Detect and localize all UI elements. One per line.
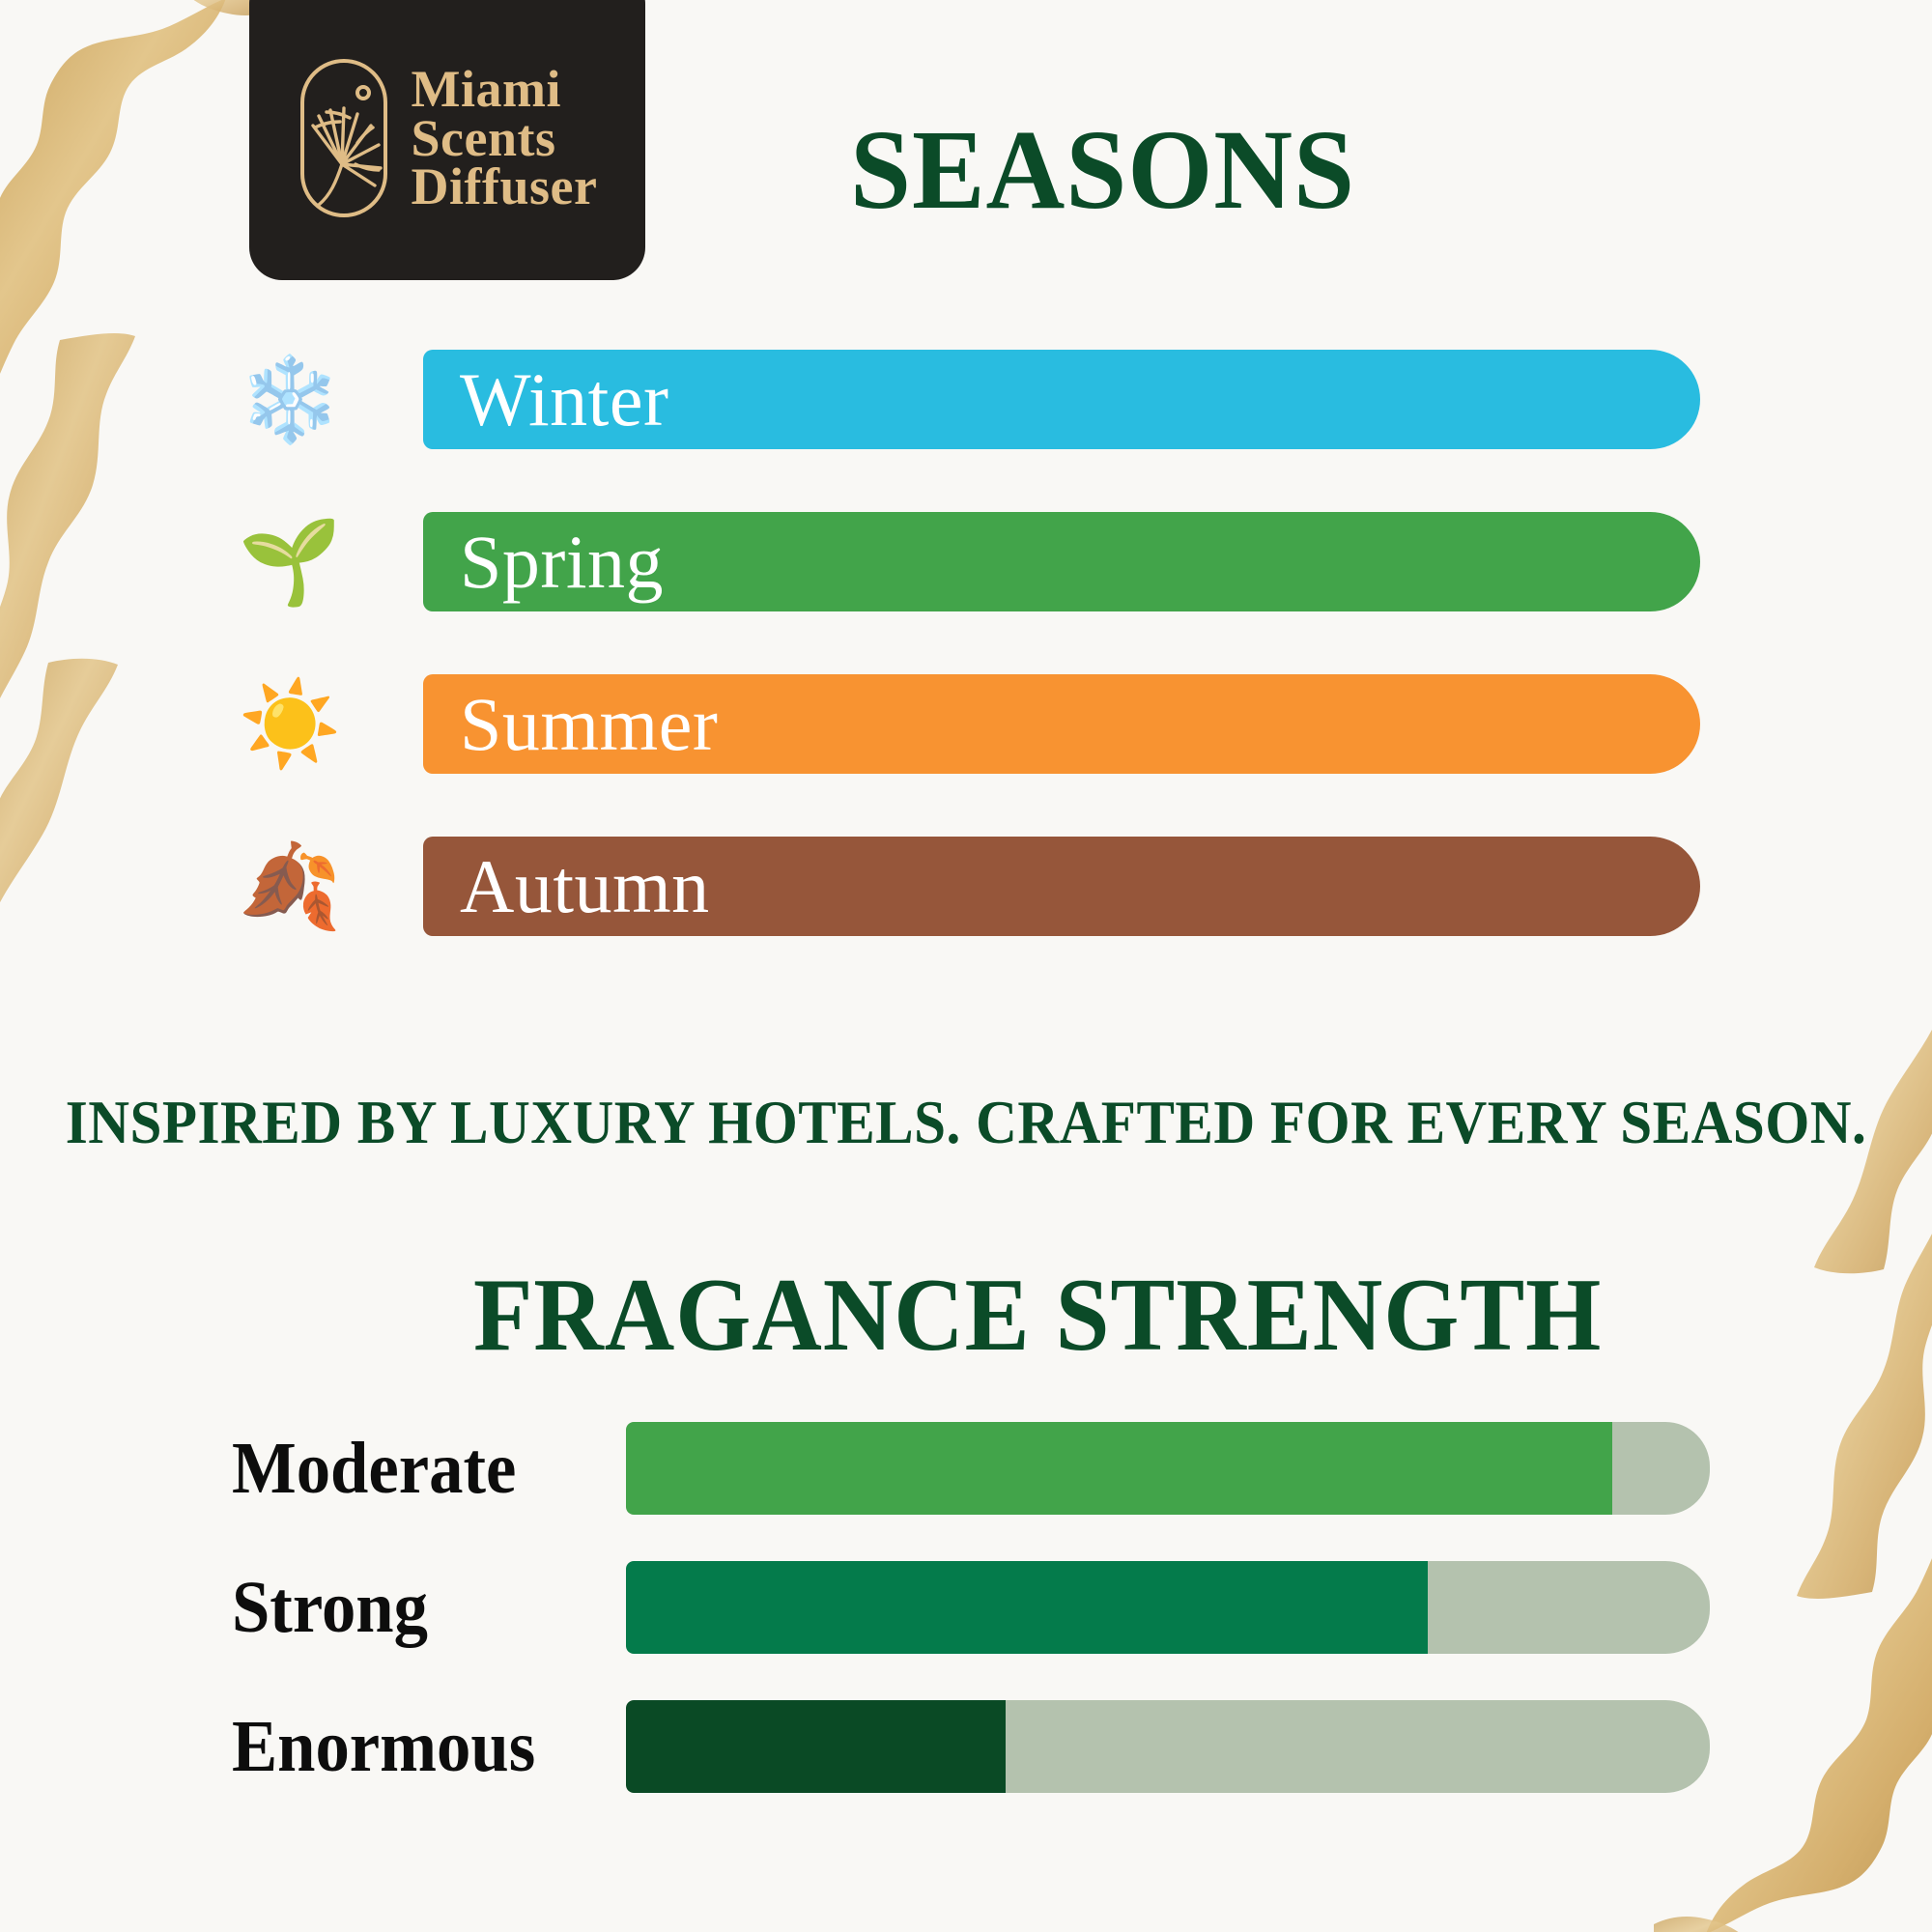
brand-logo-badge: Miami Scents Diffuser [249, 0, 645, 280]
dandelion-in-oval-logo-icon [298, 56, 390, 220]
seasons-list: ❄️ Winter 🌱 Spring ☀️ Summer 🍂 Autumn [232, 350, 1700, 999]
season-bar-spring: Spring [423, 512, 1700, 611]
fragance-strength-title: FRAGANCE STRENGTH [473, 1256, 1602, 1376]
strength-fill-moderate [626, 1422, 1612, 1515]
season-bar-autumn: Autumn [423, 837, 1700, 936]
brand-line-3: Diffuser [412, 162, 598, 212]
strength-label-strong: Strong [232, 1571, 555, 1644]
strength-fill-enormous [626, 1700, 1006, 1793]
brand-line-2: Scents [412, 114, 598, 163]
strength-row-moderate: Moderate [232, 1420, 1710, 1517]
brand-wordmark: Miami Scents Diffuser [412, 65, 598, 212]
strength-track-enormous [626, 1700, 1710, 1793]
snowflake-icon: ❄️ [232, 358, 348, 441]
seasons-title: SEASONS [850, 104, 1355, 236]
strength-label-enormous: Enormous [232, 1710, 555, 1783]
strength-track-moderate [626, 1422, 1710, 1515]
strength-track-strong [626, 1561, 1710, 1654]
season-row-summer: ☀️ Summer [232, 674, 1700, 774]
poster-canvas: Miami Scents Diffuser SEASONS ❄️ Winter … [0, 0, 1932, 1932]
strength-row-strong: Strong [232, 1559, 1710, 1656]
season-label-autumn: Autumn [423, 849, 710, 924]
strength-row-enormous: Enormous [232, 1698, 1710, 1795]
season-row-spring: 🌱 Spring [232, 512, 1700, 611]
season-bar-winter: Winter [423, 350, 1700, 449]
season-label-summer: Summer [423, 687, 718, 762]
sun-icon: ☀️ [232, 683, 348, 766]
brand-line-1: Miami [412, 65, 598, 114]
fallen-leaves-icon: 🍂 [232, 845, 348, 928]
strength-fill-strong [626, 1561, 1428, 1654]
season-bar-summer: Summer [423, 674, 1700, 774]
season-label-spring: Spring [423, 525, 664, 600]
fragance-strength-chart: Moderate Strong Enormous [232, 1420, 1710, 1837]
seedling-icon: 🌱 [232, 521, 348, 604]
season-label-winter: Winter [423, 362, 668, 438]
strength-label-moderate: Moderate [232, 1432, 555, 1505]
tagline: INSPIRED BY LUXURY HOTELS. CRAFTED FOR E… [58, 1088, 1874, 1158]
season-row-autumn: 🍂 Autumn [232, 837, 1700, 936]
season-row-winter: ❄️ Winter [232, 350, 1700, 449]
